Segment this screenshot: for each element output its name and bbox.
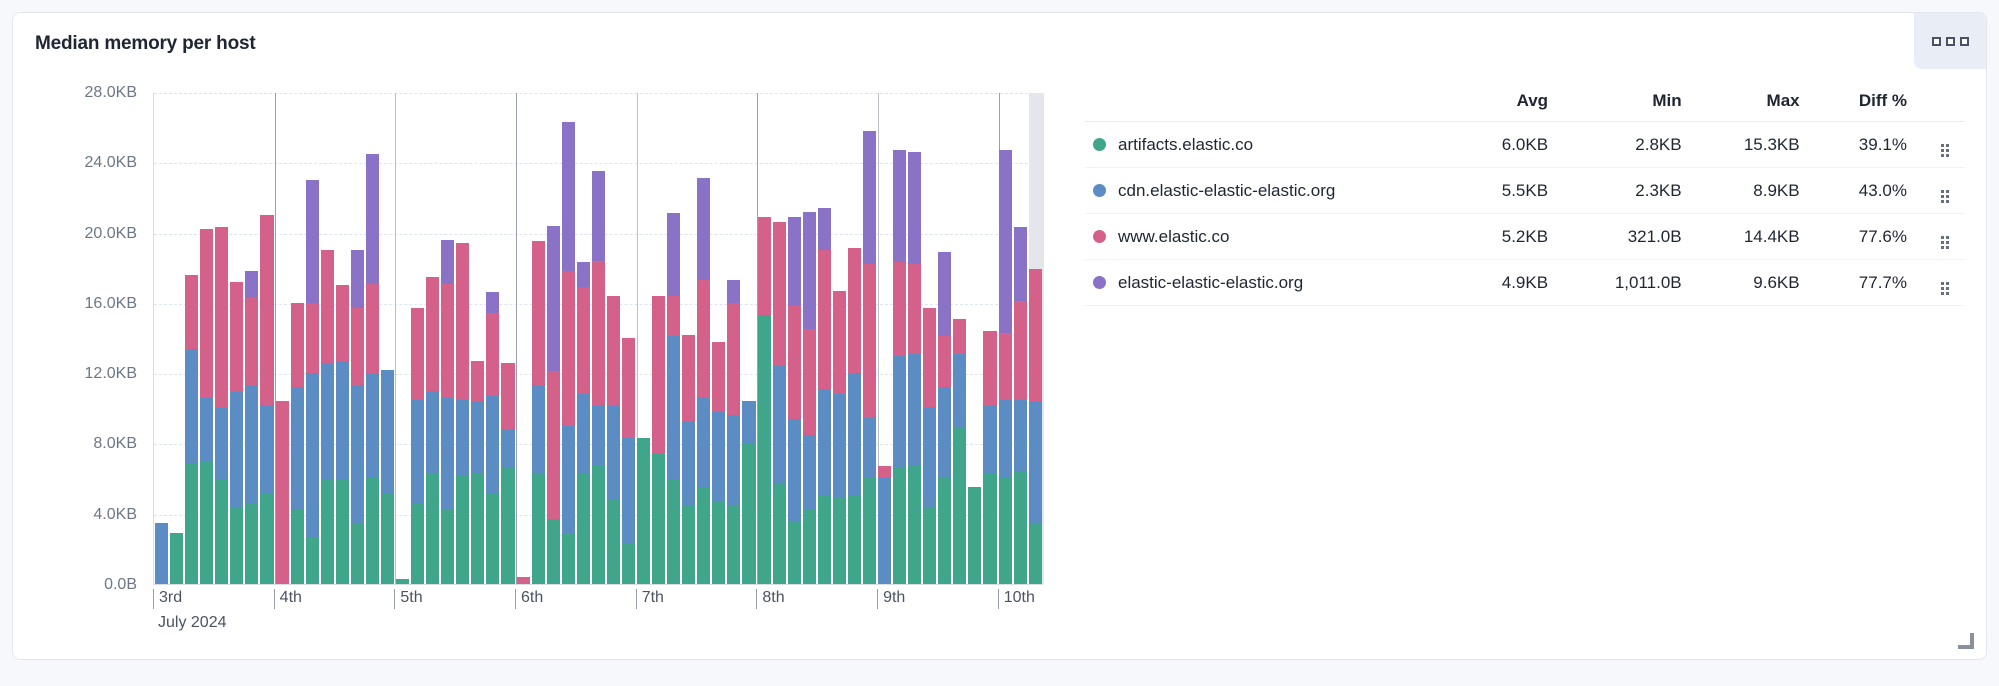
- legend-table: Avg Min Max Diff % artifacts.elastic.co6…: [1085, 85, 1965, 306]
- y-tick-label: 16.0KB: [85, 295, 137, 313]
- bar-segment: [351, 523, 364, 585]
- bar-segment: [803, 212, 816, 330]
- bar-segment: [727, 415, 740, 505]
- bar-segment: [291, 303, 304, 387]
- series-label: artifacts.elastic.co: [1118, 135, 1253, 155]
- bar-slot[interactable]: [817, 93, 832, 584]
- bar-slot[interactable]: [365, 93, 380, 584]
- bar-segment: [893, 150, 906, 262]
- bar-segment: [351, 385, 364, 522]
- y-tick-label: 8.0KB: [93, 435, 137, 453]
- bar-segment: [501, 429, 514, 468]
- bar-segment: [321, 363, 334, 479]
- bar-segment: [532, 473, 545, 584]
- bar-segment: [1029, 401, 1042, 524]
- bar-segment: [486, 313, 499, 396]
- bar-segment: [517, 577, 530, 584]
- bar-segment: [667, 480, 680, 584]
- bar-slot[interactable]: [425, 93, 440, 584]
- bar-segment: [441, 284, 454, 398]
- chart-panel: Median memory per host 0.0B4.0KB8.0KB12.…: [12, 12, 1987, 660]
- bar-segment: [215, 408, 228, 480]
- drag-handle-icon[interactable]: [1941, 190, 1949, 203]
- bar-slot[interactable]: [485, 93, 500, 584]
- bar-slot[interactable]: [696, 93, 711, 584]
- row-drag-handle-cell[interactable]: [1921, 168, 1965, 214]
- drag-dot: [1941, 190, 1944, 193]
- bar-slot[interactable]: [967, 93, 982, 584]
- bar-slot[interactable]: [470, 93, 485, 584]
- series-label: www.elastic.co: [1118, 227, 1229, 247]
- bar-slot[interactable]: [154, 93, 169, 584]
- bar-segment: [396, 579, 409, 584]
- bar-segment: [456, 400, 469, 476]
- bar-segment: [366, 477, 379, 584]
- drag-dot: [1941, 282, 1944, 285]
- bar-segment: [456, 243, 469, 399]
- bar-slot[interactable]: [546, 93, 561, 584]
- bar-segment: [893, 468, 906, 584]
- bar-segment: [938, 387, 951, 477]
- bar-segment: [863, 264, 876, 417]
- bar-segment: [667, 296, 680, 336]
- bar-segment: [1014, 400, 1027, 472]
- square-glyph-1: [1932, 37, 1941, 46]
- series-diff-value: 77.7%: [1814, 260, 1921, 306]
- bar-segment: [215, 227, 228, 408]
- x-tick-label: 3rd: [153, 589, 182, 609]
- x-tick-label: 5th: [394, 589, 422, 609]
- bar-segment: [592, 466, 605, 584]
- table-row[interactable]: elastic-elastic-elastic.org4.9KB1,011.0B…: [1085, 260, 1965, 306]
- bar-slot[interactable]: [440, 93, 455, 584]
- bar-slot[interactable]: [666, 93, 681, 584]
- drag-dot-row: [1941, 287, 1949, 290]
- bar-segment: [983, 405, 996, 474]
- bar-series-container: [154, 93, 1043, 584]
- bar-segment: [953, 319, 966, 354]
- bar-segment: [306, 180, 319, 303]
- bar-slot[interactable]: [214, 93, 229, 584]
- bar-slot[interactable]: [561, 93, 576, 584]
- x-tick-label: 10th: [998, 589, 1035, 609]
- bar-slot[interactable]: [802, 93, 817, 584]
- series-name-cell[interactable]: artifacts.elastic.co: [1085, 122, 1457, 168]
- bar-slot[interactable]: [877, 93, 892, 584]
- column-header-max[interactable]: Max: [1696, 85, 1814, 122]
- bar-segment: [366, 154, 379, 284]
- bar-segment: [351, 250, 364, 308]
- table-row[interactable]: cdn.elastic-elastic-elastic.org5.5KB2.3K…: [1085, 168, 1965, 214]
- bar-slot[interactable]: [907, 93, 922, 584]
- legend-rows: artifacts.elastic.co6.0KB2.8KB15.3KB39.1…: [1085, 122, 1965, 306]
- drag-dot-row: [1941, 149, 1949, 152]
- drag-dot: [1941, 149, 1944, 152]
- bar-segment: [999, 150, 1012, 333]
- bar-slot[interactable]: [937, 93, 952, 584]
- drag-dot-row: [1941, 190, 1949, 193]
- bar-segment: [622, 544, 635, 584]
- bar-segment: [652, 454, 665, 584]
- bar-segment: [788, 521, 801, 584]
- bar-slot[interactable]: [1028, 93, 1043, 584]
- bar-segment: [818, 250, 831, 389]
- square-glyph-2: [1946, 37, 1955, 46]
- bar-segment: [170, 533, 183, 584]
- drag-dot: [1941, 287, 1944, 290]
- bar-segment: [245, 271, 258, 297]
- drag-dot-row: [1941, 200, 1949, 203]
- bar-slot[interactable]: [576, 93, 591, 584]
- bar-slot[interactable]: [606, 93, 621, 584]
- bar-segment: [863, 477, 876, 584]
- bar-slot[interactable]: [636, 93, 651, 584]
- bar-segment: [999, 477, 1012, 584]
- bar-segment: [908, 465, 921, 584]
- series-min-value: 2.8KB: [1562, 122, 1696, 168]
- bar-segment: [742, 401, 755, 443]
- bar-segment: [155, 523, 168, 585]
- bar-segment: [245, 298, 258, 386]
- bar-segment: [230, 507, 243, 584]
- drag-dot: [1946, 287, 1949, 290]
- bar-slot[interactable]: [229, 93, 244, 584]
- drag-handle-icon[interactable]: [1941, 236, 1949, 249]
- bar-slot[interactable]: [982, 93, 997, 584]
- panel-header: Median memory per host: [13, 13, 1986, 71]
- bar-segment: [426, 391, 439, 474]
- bar-segment: [742, 443, 755, 584]
- bar-segment: [818, 496, 831, 584]
- bar-segment: [260, 405, 273, 493]
- bar-segment: [818, 208, 831, 250]
- resize-corner-icon[interactable]: [1958, 633, 1974, 649]
- drag-dot: [1946, 246, 1949, 249]
- bar-segment: [727, 280, 740, 303]
- bar-slot[interactable]: [726, 93, 741, 584]
- square-glyph-3: [1960, 37, 1969, 46]
- column-header-min[interactable]: Min: [1562, 85, 1696, 122]
- bar-slot[interactable]: [199, 93, 214, 584]
- bar-slot[interactable]: [531, 93, 546, 584]
- bar-segment: [230, 392, 243, 506]
- drag-dot: [1941, 200, 1944, 203]
- bar-segment: [983, 473, 996, 584]
- bar-segment: [1029, 524, 1042, 584]
- bar-slot[interactable]: [998, 93, 1013, 584]
- bar-slot[interactable]: [305, 93, 320, 584]
- drag-dot: [1946, 282, 1949, 285]
- bar-segment: [577, 287, 590, 394]
- bar-segment: [697, 398, 710, 488]
- drag-dot: [1946, 241, 1949, 244]
- bar-slot[interactable]: [380, 93, 395, 584]
- x-axis-sublabel: July 2024: [158, 614, 227, 632]
- drag-dot: [1941, 292, 1944, 295]
- bar-segment: [682, 505, 695, 584]
- bar-segment: [697, 178, 710, 280]
- bar-slot[interactable]: [922, 93, 937, 584]
- bar-slot[interactable]: [516, 93, 531, 584]
- bar-segment: [697, 487, 710, 584]
- drag-dot: [1941, 195, 1944, 198]
- series-min-value: 321.0B: [1562, 214, 1696, 260]
- bar-slot[interactable]: [711, 93, 726, 584]
- drag-dot-row: [1941, 246, 1949, 249]
- bar-segment: [291, 510, 304, 584]
- bar-segment: [321, 479, 334, 584]
- bar-segment: [712, 412, 725, 502]
- bar-segment: [923, 308, 936, 406]
- column-header-avg[interactable]: Avg: [1457, 85, 1562, 122]
- bar-segment: [471, 361, 484, 401]
- bar-segment: [592, 261, 605, 405]
- bar-slot[interactable]: [757, 93, 772, 584]
- bar-segment: [923, 407, 936, 509]
- bar-segment: [697, 280, 710, 398]
- bar-segment: [968, 487, 981, 584]
- bar-slot[interactable]: [350, 93, 365, 584]
- bar-segment: [923, 508, 936, 584]
- bar-segment: [999, 333, 1012, 400]
- bar-segment: [607, 405, 620, 500]
- bar-segment: [833, 498, 846, 584]
- bar-segment: [411, 400, 424, 504]
- row-drag-handle-cell[interactable]: [1921, 214, 1965, 260]
- bar-segment: [411, 308, 424, 399]
- drag-dot: [1946, 154, 1949, 157]
- bar-segment: [471, 473, 484, 584]
- bar-segment: [306, 303, 319, 373]
- bar-segment: [381, 494, 394, 584]
- series-max-value: 8.9KB: [1696, 168, 1814, 214]
- bar-segment: [215, 480, 228, 584]
- bar-slot[interactable]: [862, 93, 877, 584]
- bar-segment: [773, 222, 786, 366]
- row-drag-handle-cell[interactable]: [1921, 260, 1965, 306]
- series-label: elastic-elastic-elastic.org: [1118, 273, 1303, 293]
- bar-segment: [788, 419, 801, 521]
- bar-segment: [727, 303, 740, 415]
- bar-slot[interactable]: [787, 93, 802, 584]
- bar-segment: [878, 477, 891, 584]
- bar-slot[interactable]: [169, 93, 184, 584]
- bar-segment: [938, 252, 951, 336]
- bar-slot[interactable]: [591, 93, 606, 584]
- row-drag-handle-cell[interactable]: [1921, 122, 1965, 168]
- bar-slot[interactable]: [772, 93, 787, 584]
- series-diff-value: 77.6%: [1814, 214, 1921, 260]
- bar-segment: [411, 503, 424, 584]
- y-tick-label: 4.0KB: [93, 506, 137, 524]
- bar-segment: [712, 342, 725, 412]
- bar-segment: [893, 262, 906, 355]
- bar-slot[interactable]: [335, 93, 350, 584]
- three-squares-icon[interactable]: [1914, 13, 1986, 69]
- drag-dot: [1946, 195, 1949, 198]
- series-diff-value: 39.1%: [1814, 122, 1921, 168]
- column-header-name: [1085, 85, 1457, 122]
- drag-handle-icon[interactable]: [1941, 144, 1949, 157]
- table-row[interactable]: www.elastic.co5.2KB321.0B14.4KB77.6%: [1085, 214, 1965, 260]
- bar-segment: [983, 331, 996, 405]
- bar-slot[interactable]: [410, 93, 425, 584]
- bar-slot[interactable]: [500, 93, 515, 584]
- bar-segment: [577, 394, 590, 473]
- bar-segment: [1014, 227, 1027, 301]
- bar-segment: [727, 505, 740, 584]
- plot-region[interactable]: [153, 93, 1043, 585]
- bar-segment: [758, 315, 771, 584]
- series-avg-value: 6.0KB: [1457, 122, 1562, 168]
- bar-segment: [291, 387, 304, 510]
- bar-segment: [532, 241, 545, 385]
- bar-slot[interactable]: [847, 93, 862, 584]
- drag-dot: [1941, 236, 1944, 239]
- drag-dot-row: [1941, 241, 1949, 244]
- drag-dot-row: [1941, 154, 1949, 157]
- bar-segment: [1029, 269, 1042, 401]
- bar-slot[interactable]: [651, 93, 666, 584]
- drag-handle-icon[interactable]: [1941, 282, 1949, 295]
- bar-segment: [863, 131, 876, 265]
- bar-segment: [833, 291, 846, 395]
- bar-slot[interactable]: [892, 93, 907, 584]
- bar-segment: [818, 389, 831, 496]
- bar-segment: [637, 438, 650, 584]
- series-min-value: 2.3KB: [1562, 168, 1696, 214]
- series-avg-value: 4.9KB: [1457, 260, 1562, 306]
- bar-segment: [501, 468, 514, 584]
- bar-slot[interactable]: [681, 93, 696, 584]
- series-avg-value: 5.2KB: [1457, 214, 1562, 260]
- bar-segment: [486, 292, 499, 313]
- series-color-dot-icon: [1093, 138, 1106, 151]
- bar-segment: [682, 335, 695, 423]
- column-header-diff[interactable]: Diff %: [1814, 85, 1921, 122]
- bar-segment: [577, 262, 590, 287]
- bar-segment: [622, 338, 635, 438]
- column-header-handle: [1921, 85, 1965, 122]
- table-row[interactable]: artifacts.elastic.co6.0KB2.8KB15.3KB39.1…: [1085, 122, 1965, 168]
- series-summary-table: Avg Min Max Diff % artifacts.elastic.co6…: [1085, 85, 1965, 306]
- bar-segment: [486, 494, 499, 584]
- bar-segment: [652, 296, 665, 454]
- bar-segment: [577, 473, 590, 584]
- bar-segment: [321, 250, 334, 362]
- bar-slot[interactable]: [455, 93, 470, 584]
- y-axis: 0.0B4.0KB8.0KB12.0KB16.0KB20.0KB24.0KB28…: [35, 71, 145, 631]
- bar-segment: [803, 435, 816, 511]
- bar-segment: [788, 217, 801, 307]
- bar-slot[interactable]: [621, 93, 636, 584]
- bar-slot[interactable]: [244, 93, 259, 584]
- drag-dot-row: [1941, 236, 1949, 239]
- bar-slot[interactable]: [741, 93, 756, 584]
- bar-segment: [441, 240, 454, 284]
- x-tick-label: 4th: [274, 589, 302, 609]
- bar-segment: [953, 354, 966, 428]
- bar-segment: [366, 373, 379, 477]
- bar-segment: [607, 500, 620, 584]
- series-diff-value: 43.0%: [1814, 168, 1921, 214]
- bar-segment: [547, 371, 560, 519]
- bar-slot[interactable]: [1013, 93, 1028, 584]
- drag-dot: [1946, 236, 1949, 239]
- bar-segment: [833, 394, 846, 498]
- series-label: cdn.elastic-elastic-elastic.org: [1118, 181, 1335, 201]
- bar-segment: [456, 475, 469, 584]
- series-name-cell[interactable]: elastic-elastic-elastic.org: [1085, 260, 1457, 306]
- bar-slot[interactable]: [290, 93, 305, 584]
- bar-slot[interactable]: [832, 93, 847, 584]
- bar-slot[interactable]: [395, 93, 410, 584]
- bar-segment: [336, 479, 349, 584]
- bar-segment: [547, 519, 560, 584]
- bar-segment: [893, 356, 906, 468]
- series-color-dot-icon: [1093, 184, 1106, 197]
- bar-segment: [878, 466, 891, 477]
- drag-dot: [1946, 292, 1949, 295]
- bar-segment: [351, 308, 364, 385]
- drag-dot-row: [1941, 292, 1949, 295]
- bar-segment: [908, 264, 921, 354]
- bar-segment: [185, 275, 198, 349]
- bar-segment: [999, 400, 1012, 477]
- series-color-dot-icon: [1093, 230, 1106, 243]
- y-tick-label: 20.0KB: [85, 225, 137, 243]
- x-tick-label: 9th: [877, 589, 905, 609]
- bar-segment: [200, 461, 213, 584]
- x-tick-label: 7th: [636, 589, 664, 609]
- bar-segment: [230, 282, 243, 393]
- series-min-value: 1,011.0B: [1562, 260, 1696, 306]
- bar-segment: [712, 501, 725, 584]
- bar-slot[interactable]: [275, 93, 290, 584]
- drag-dot: [1946, 144, 1949, 147]
- bar-segment: [426, 277, 439, 391]
- bar-segment: [803, 329, 816, 434]
- bar-segment: [200, 398, 213, 461]
- bar-segment: [607, 296, 620, 405]
- bar-segment: [366, 284, 379, 374]
- bar-segment: [773, 484, 786, 584]
- bar-segment: [260, 215, 273, 405]
- bar-segment: [938, 336, 951, 387]
- bar-segment: [336, 361, 349, 479]
- bar-segment: [848, 373, 861, 496]
- series-name-cell[interactable]: www.elastic.co: [1085, 214, 1457, 260]
- bar-segment: [758, 217, 771, 315]
- bar-slot[interactable]: [952, 93, 967, 584]
- bar-segment: [592, 171, 605, 261]
- bar-segment: [200, 229, 213, 398]
- series-avg-value: 5.5KB: [1457, 168, 1562, 214]
- resize-bar-horizontal: [1958, 645, 1974, 649]
- series-color-dot-icon: [1093, 276, 1106, 289]
- bar-segment: [622, 438, 635, 543]
- bar-segment: [863, 417, 876, 477]
- drag-dot-row: [1941, 195, 1949, 198]
- series-name-cell[interactable]: cdn.elastic-elastic-elastic.org: [1085, 168, 1457, 214]
- bar-slot[interactable]: [184, 93, 199, 584]
- bar-segment: [803, 510, 816, 584]
- drag-dot: [1946, 200, 1949, 203]
- drag-dot: [1941, 241, 1944, 244]
- bar-slot[interactable]: [320, 93, 335, 584]
- bar-slot[interactable]: [259, 93, 274, 584]
- bar-segment: [667, 213, 680, 296]
